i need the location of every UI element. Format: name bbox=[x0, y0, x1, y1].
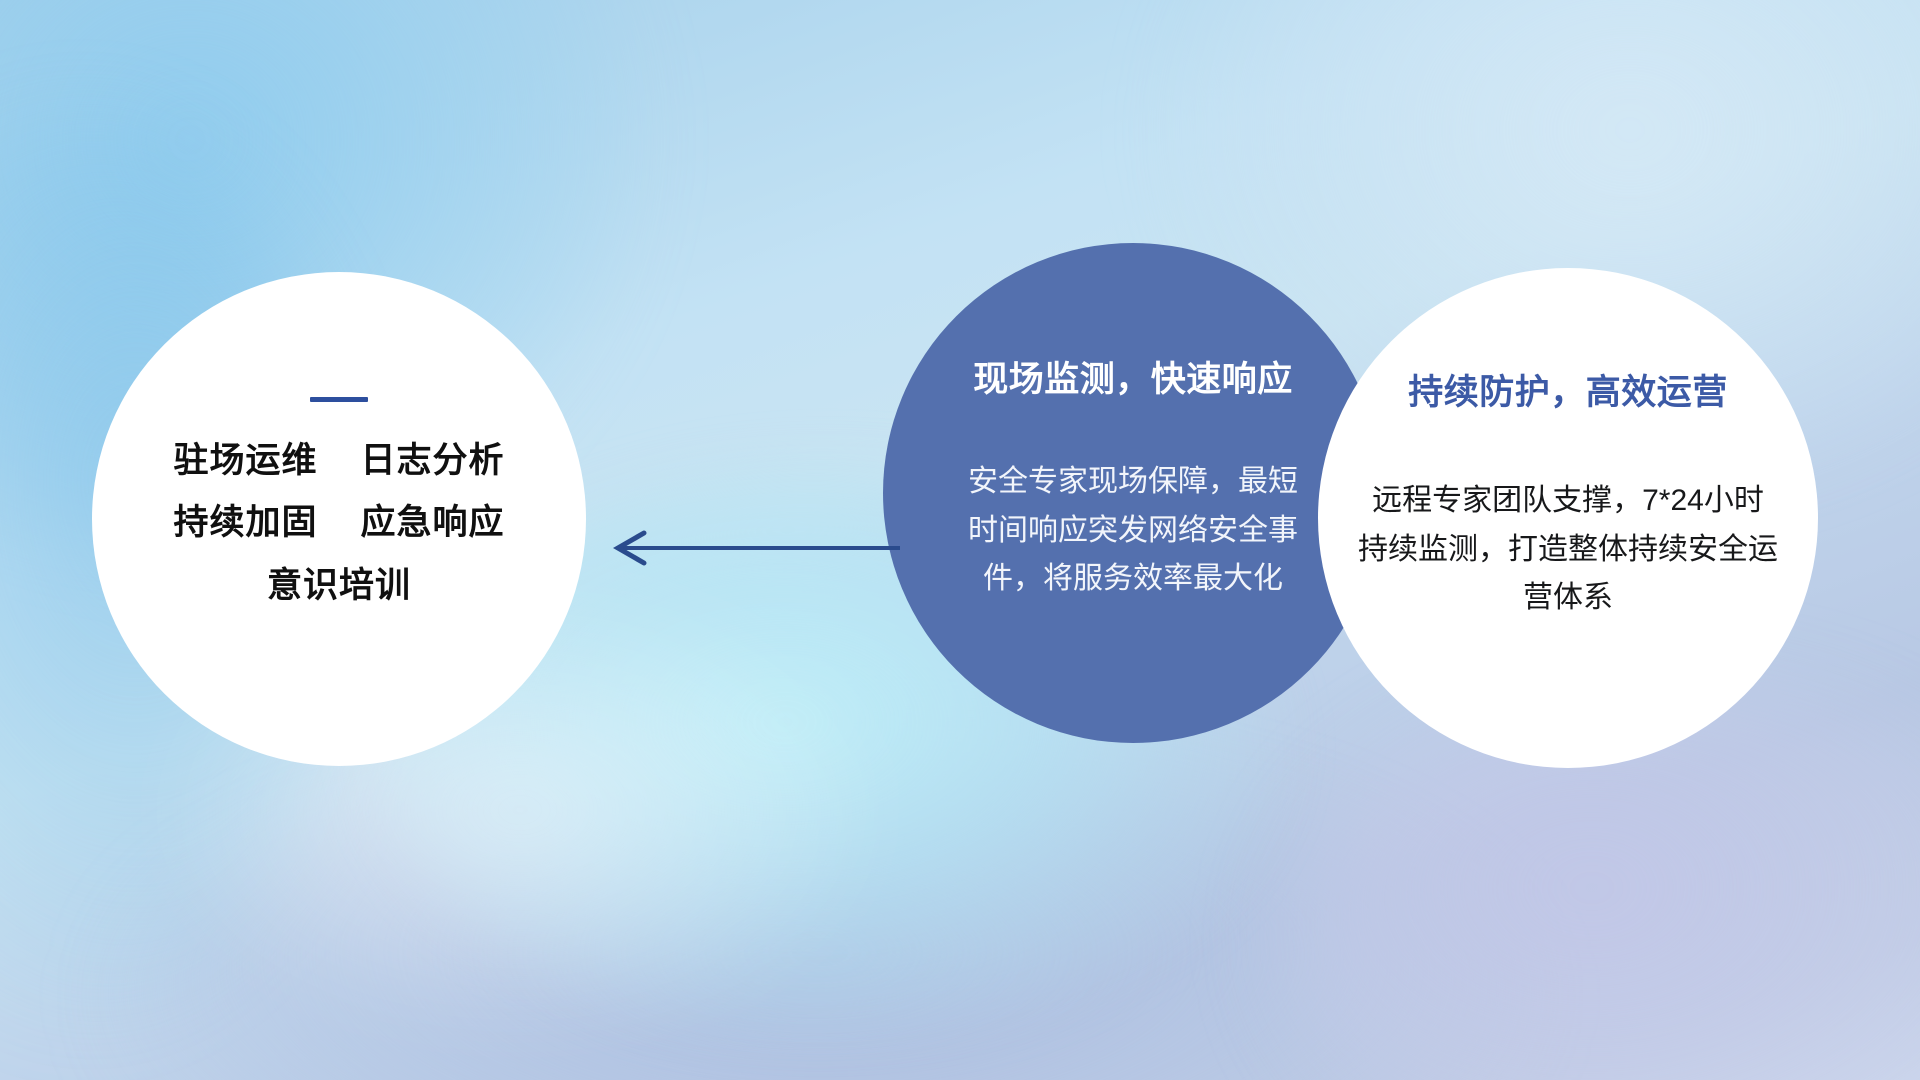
circle-body-text: 远程专家团队支撑，7*24小时持续监测，打造整体持续安全运营体系 bbox=[1358, 477, 1778, 623]
list-item: 意识培训 bbox=[92, 555, 586, 617]
list-item: 持续加固 应急响应 bbox=[92, 492, 586, 554]
circle-title: 持续防护，高效运营 bbox=[1408, 364, 1728, 415]
circle-body-text: 安全专家现场保障，最短时间响应突发网络安全事件，将服务效率最大化 bbox=[968, 458, 1298, 604]
left-arrow-icon bbox=[600, 512, 900, 584]
capability-circle-left[interactable]: 驻场运维 日志分析 持续加固 应急响应 意识培训 bbox=[92, 272, 586, 766]
horizontal-dash-rule-icon bbox=[310, 397, 368, 402]
slide-canvas: 驻场运维 日志分析 持续加固 应急响应 意识培训 现场监测，快速响应 安全专家现… bbox=[0, 0, 1920, 1080]
list-item: 驻场运维 日志分析 bbox=[92, 430, 586, 492]
capability-circle-right[interactable]: 持续防护，高效运营 远程专家团队支撑，7*24小时持续监测，打造整体持续安全运营… bbox=[1318, 268, 1818, 768]
circle-title: 现场监测，快速响应 bbox=[973, 351, 1293, 402]
capability-list: 驻场运维 日志分析 持续加固 应急响应 意识培训 bbox=[92, 430, 586, 617]
capability-circle-middle[interactable]: 现场监测，快速响应 安全专家现场保障，最短时间响应突发网络安全事件，将服务效率最… bbox=[883, 243, 1383, 743]
